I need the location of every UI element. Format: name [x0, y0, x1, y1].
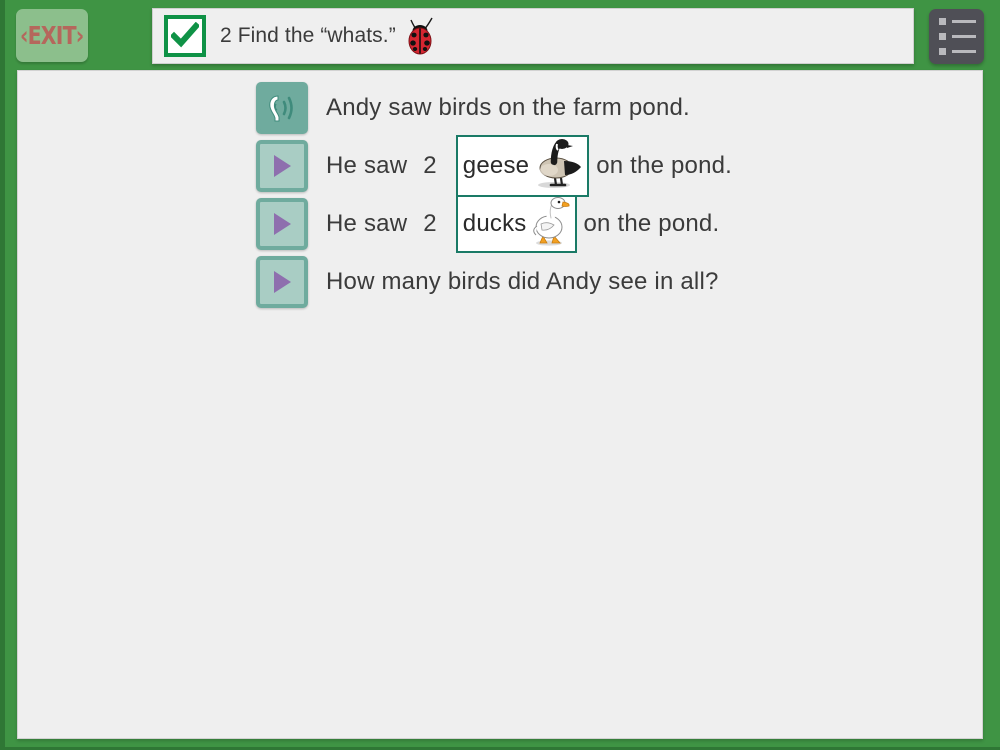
play-icon[interactable]	[256, 198, 308, 250]
app-root: ‹EXIT› 2 Find the “whats.”	[0, 0, 1000, 750]
sentence-suffix: on the pond.	[596, 152, 732, 180]
menu-row	[939, 18, 984, 25]
lesson-title-bar: 2 Find the “whats.”	[152, 8, 914, 64]
play-icon[interactable]	[256, 256, 308, 308]
word-label: ducks	[463, 210, 527, 238]
goose-icon	[529, 137, 585, 196]
word-picture-ducks[interactable]: ducks	[456, 195, 577, 253]
sentence-row-1: Andy saw birds on the farm pond.	[18, 79, 982, 137]
play-triangle-glyph	[271, 154, 293, 178]
list-menu-icon[interactable]	[929, 9, 984, 64]
ear-soundwave-glyph	[265, 93, 299, 123]
menu-row	[939, 33, 984, 40]
play-triangle-glyph	[271, 270, 293, 294]
sentence-list: Andy saw birds on the farm pond. He saw …	[18, 71, 982, 311]
checkmark-icon[interactable]	[164, 15, 206, 57]
sentence-count: 2	[423, 152, 437, 180]
sentence-text: He saw 2 ducks	[326, 195, 719, 253]
sentence-prefix: He saw	[326, 152, 407, 180]
page-title: 2 Find the “whats.”	[220, 24, 396, 48]
menu-line	[952, 20, 976, 23]
menu-line	[952, 50, 976, 53]
sentence-suffix: on the pond.	[584, 210, 720, 238]
sentence-count: 2	[423, 210, 437, 238]
sentence-row-4: How many birds did Andy see in all?	[18, 253, 982, 311]
sentence-row-3: He saw 2 ducks	[18, 195, 982, 253]
sentence-text: How many birds did Andy see in all?	[326, 268, 719, 296]
word-picture-geese[interactable]: geese	[456, 135, 589, 197]
word-label: geese	[463, 152, 529, 180]
exit-sign-icon: ‹EXIT›	[20, 21, 83, 50]
menu-bullet	[939, 18, 946, 25]
duck-icon	[527, 196, 573, 253]
content-panel: Andy saw birds on the farm pond. He saw …	[17, 70, 983, 739]
menu-row	[939, 48, 984, 55]
menu-bullet	[939, 48, 946, 55]
sentence-text: He saw 2 geese	[326, 135, 732, 197]
play-icon[interactable]	[256, 140, 308, 192]
exit-button[interactable]: ‹EXIT›	[16, 9, 88, 62]
play-triangle-glyph	[271, 212, 293, 236]
listen-ear-icon[interactable]	[256, 82, 308, 134]
menu-line	[952, 35, 976, 38]
checkmark-glyph	[171, 22, 199, 50]
sentence-row-2: He saw 2 geese	[18, 137, 982, 195]
sentence-prefix: He saw	[326, 210, 407, 238]
ladybug-icon	[402, 15, 438, 55]
menu-bullet	[939, 33, 946, 40]
sentence-text: Andy saw birds on the farm pond.	[326, 94, 690, 122]
